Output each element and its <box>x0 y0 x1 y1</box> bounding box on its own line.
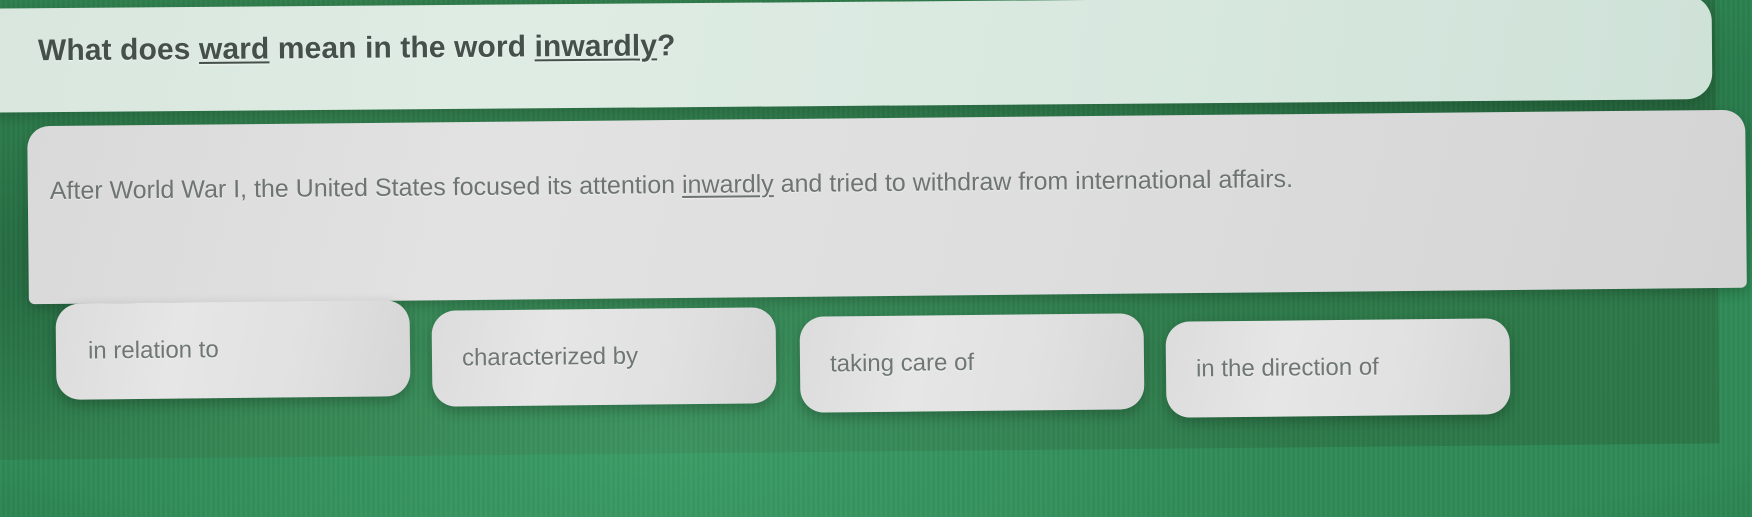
passage-card: After World War I, the United States foc… <box>27 110 1747 304</box>
passage-text: After World War I, the United States foc… <box>50 158 1690 208</box>
question-card: What does ward mean in the word inwardly… <box>0 0 1712 113</box>
answer-option-2-label: taking care of <box>800 349 974 379</box>
question-middle: mean in the word <box>269 30 534 65</box>
answer-option-1-label: characterized by <box>432 343 638 373</box>
answer-option-0-label: in relation to <box>56 336 219 366</box>
question-prefix: What does <box>38 33 199 67</box>
answer-option-3[interactable]: in the direction of <box>1166 318 1511 418</box>
answer-option-3-label: in the direction of <box>1166 354 1379 384</box>
passage-after: and tried to withdraw from international… <box>774 165 1293 198</box>
answer-option-2[interactable]: taking care of <box>800 313 1145 413</box>
answer-option-0[interactable]: in relation to <box>56 300 411 400</box>
answer-option-1[interactable]: characterized by <box>432 307 777 407</box>
question-prompt: What does ward mean in the word inwardly… <box>38 29 676 68</box>
passage-highlight-word: inwardly <box>682 170 774 199</box>
quiz-screen: What does ward mean in the word inwardly… <box>0 0 1752 517</box>
passage-before: After World War I, the United States foc… <box>50 171 682 205</box>
question-suffix: ? <box>657 29 676 62</box>
question-target-word: ward <box>199 32 270 66</box>
question-context-word: inwardly <box>534 29 657 63</box>
